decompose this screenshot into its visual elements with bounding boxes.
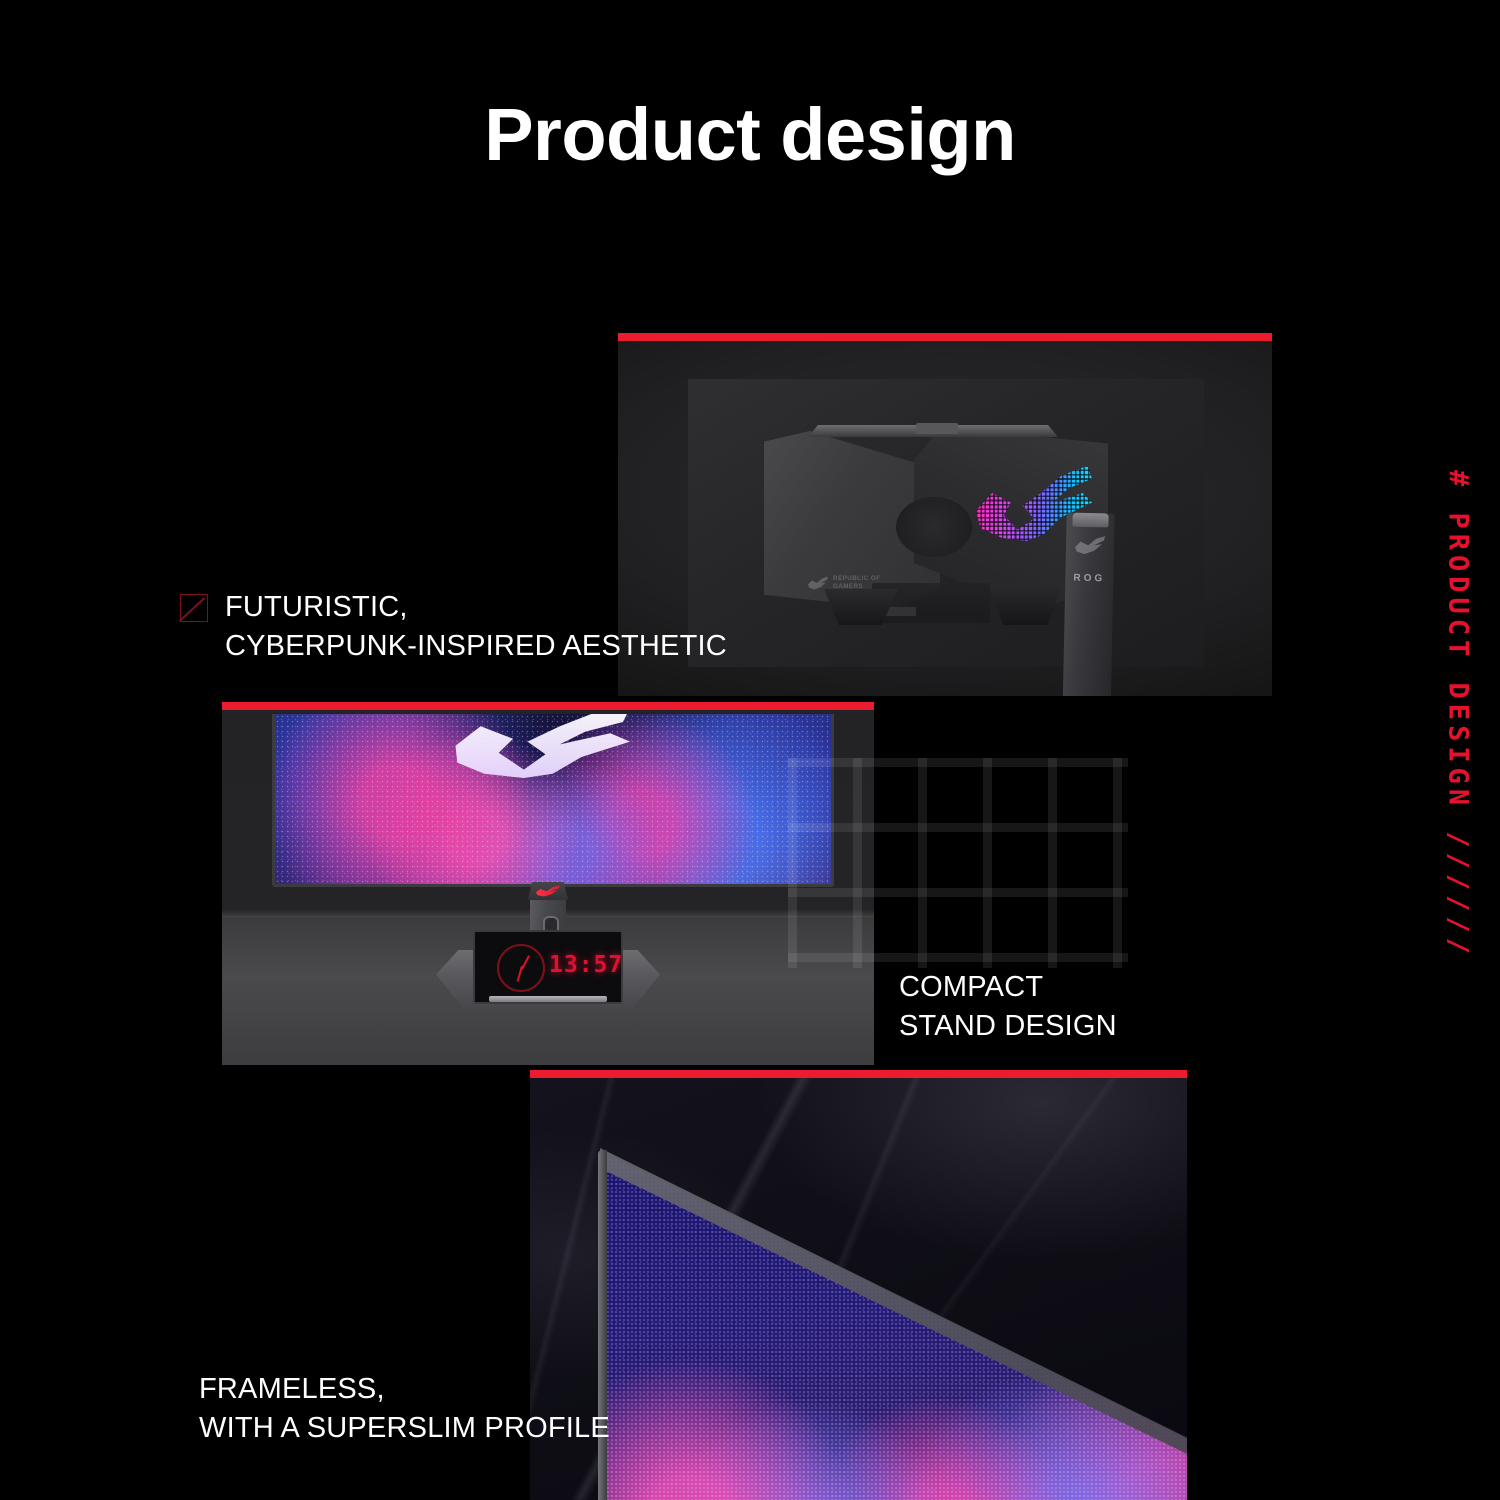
stand-rog-eye-icon — [1075, 535, 1105, 556]
callout-compact-line2: STAND DESIGN — [899, 1010, 1117, 1042]
rog-badge-line1: REPUBLIC OF — [833, 575, 880, 582]
callout-futuristic-text: FUTURISTIC, CYBERPUNK-INSPIRED AESTHETIC — [225, 588, 727, 665]
vertical-side-tag: # PRODUCT DESIGN ////// — [1430, 470, 1486, 990]
monitor-rear-chassis: REPUBLIC OF GAMERS ROG — [764, 413, 1108, 619]
stand-base-slot — [489, 996, 607, 1002]
stand-rog-label: ROG — [1065, 571, 1113, 588]
stand-hinge — [896, 497, 972, 557]
poster-canvas: Product design # PRODUCT DESIGN ////// R… — [0, 0, 1500, 1500]
callout-compact: COMPACT STAND DESIGN — [899, 968, 1117, 1045]
callout-futuristic: FUTURISTIC, CYBERPUNK-INSPIRED AESTHETIC — [180, 588, 727, 665]
page-title: Product design — [0, 98, 1500, 172]
callout-compact-line1: COMPACT — [899, 971, 1043, 1003]
side-tag-label: # PRODUCT DESIGN ////// — [1443, 470, 1474, 959]
callout-frameless-line1: FRAMELESS, — [199, 1373, 385, 1405]
stand-column: ROG — [1061, 513, 1114, 696]
panel-accent-bar — [618, 333, 1272, 341]
monitor-corner-photo — [530, 1078, 1187, 1500]
panel-monitor-front: 13:57 — [222, 702, 874, 1065]
callout-futuristic-line2: CYBERPUNK-INSPIRED AESTHETIC — [225, 630, 727, 662]
checkbox-slash-icon — [180, 594, 208, 622]
callout-frameless: FRAMELESS, WITH A SUPERSLIM PROFILE — [199, 1370, 610, 1447]
stand-cap — [1072, 513, 1108, 528]
docked-phone-display: 13:57 — [473, 930, 623, 1004]
panel-accent-bar — [222, 702, 874, 710]
chassis-top-nub — [916, 423, 958, 434]
crosshair-grid-decoration — [788, 758, 1128, 968]
monitor-screen — [272, 714, 834, 887]
rog-badge-line2: GAMERS — [833, 583, 863, 590]
panel-accent-bar — [530, 1070, 1187, 1078]
rog-eye-icon — [808, 576, 828, 590]
callout-frameless-line2: WITH A SUPERSLIM PROFILE — [199, 1412, 610, 1444]
monitor-front-photo: 13:57 — [222, 710, 874, 1065]
bezel-left-edge — [598, 1150, 607, 1500]
callout-futuristic-line1: FUTURISTIC, — [225, 591, 408, 623]
panel-monitor-corner — [530, 1070, 1187, 1500]
analog-clock-icon — [497, 944, 545, 992]
clock-time-readout: 13:57 — [549, 952, 623, 978]
